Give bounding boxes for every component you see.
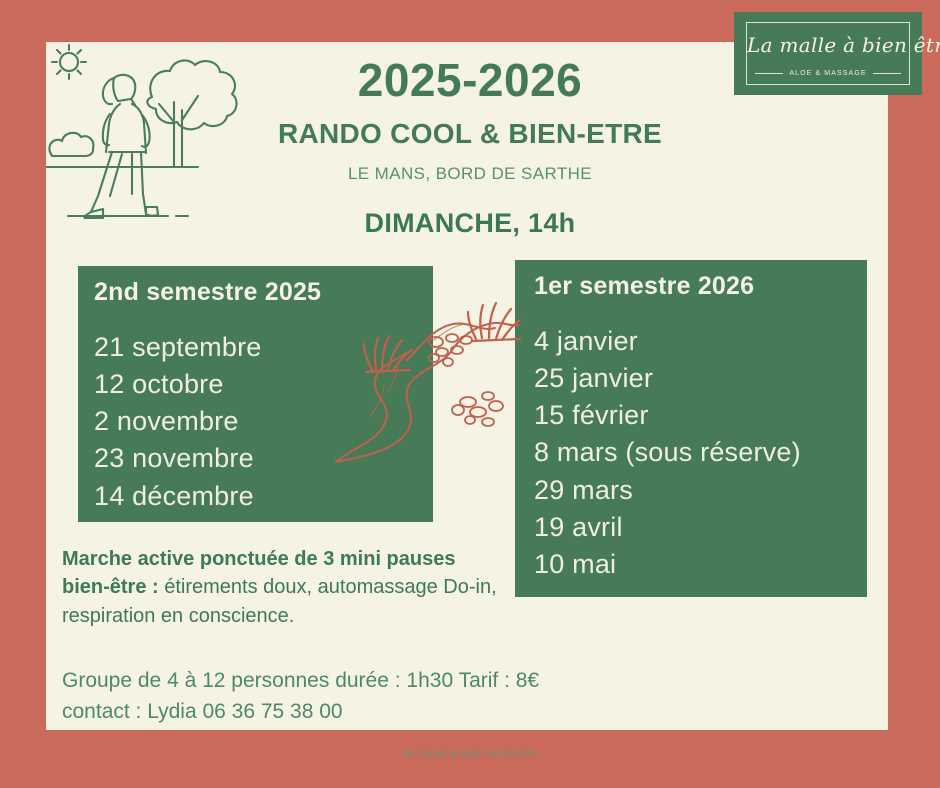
- page-subtitle-daytime: DIMANCHE, 14h: [200, 210, 740, 237]
- date-panel-2026: 1er semestre 2026 4 janvier 25 janvier 1…: [515, 260, 867, 597]
- brand-logo[interactable]: La malle à bien être ALOE & MASSAGE: [734, 12, 922, 95]
- list-item: 25 janvier: [534, 360, 867, 397]
- page-title-year: 2025-2026: [240, 57, 700, 103]
- list-item: 15 février: [534, 397, 867, 434]
- description-text: Marche active ponctuée de 3 mini pauses …: [62, 545, 502, 630]
- logo-frame: La malle à bien être ALOE & MASSAGE: [746, 22, 910, 85]
- page-title-main: RANDO COOL & BIEN-ETRE: [200, 120, 740, 148]
- panel-title: 1er semestre 2026: [534, 273, 867, 301]
- practical-info: Groupe de 4 à 12 personnes durée : 1h30 …: [62, 665, 702, 727]
- date-list: 4 janvier 25 janvier 15 février 8 mars (…: [534, 323, 867, 584]
- poster-canvas: 2nd semestre 2025 21 septembre 12 octobr…: [0, 0, 940, 788]
- list-item: 19 avril: [534, 509, 867, 546]
- logo-subtitle: ALOE & MASSAGE: [789, 70, 866, 77]
- winding-path-illustration: [330, 296, 525, 496]
- info-line-group: Groupe de 4 à 12 personnes durée : 1h30 …: [62, 665, 702, 696]
- logo-subtitle-row: ALOE & MASSAGE: [755, 70, 901, 77]
- logo-script-text: La malle à bien être: [747, 33, 909, 57]
- logo-rule-right: [873, 73, 901, 74]
- info-line-contact: contact : Lydia 06 36 75 38 00: [62, 696, 702, 727]
- list-item: 4 janvier: [534, 323, 867, 360]
- list-item: 10 mai: [534, 546, 867, 583]
- logo-rule-left: [755, 73, 783, 74]
- list-item: 29 mars: [534, 472, 867, 509]
- list-item: 8 mars (sous réserve): [534, 434, 867, 471]
- page-subtitle-location: LE MANS, BORD DE SARTHE: [200, 165, 740, 182]
- footer-website-url: la-malle-a-bien-etre.com: [0, 748, 940, 760]
